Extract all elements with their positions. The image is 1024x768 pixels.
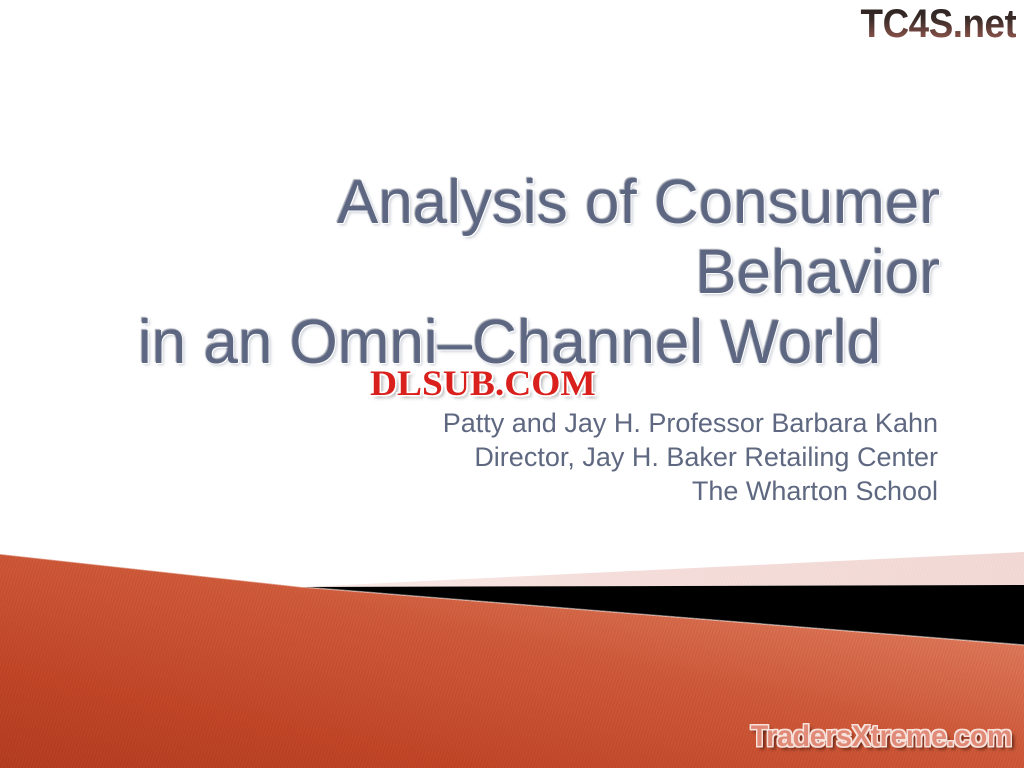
tradersxtreme-watermark: TradersXtreme.com xyxy=(751,720,1012,754)
slide-subtitle: Patty and Jay H. Professor Barbara Kahn … xyxy=(60,406,938,508)
slide-title: Analysis of Consumer Behavior in an Omni… xyxy=(60,168,940,378)
orange-highlight-edge xyxy=(0,554,1024,645)
presentation-slide: TC4S.net Analysis of Consumer Behavior i… xyxy=(0,0,1024,768)
subtitle-line-role: Director, Jay H. Baker Retailing Center xyxy=(60,440,938,474)
black-wedge xyxy=(302,585,1024,645)
subtitle-line-author: Patty and Jay H. Professor Barbara Kahn xyxy=(60,406,938,440)
title-line-2: Behavior xyxy=(60,238,940,308)
subtitle-line-institution: The Wharton School xyxy=(60,474,938,508)
tc4s-watermark: TC4S.net xyxy=(860,2,1016,47)
title-line-1: Analysis of Consumer xyxy=(60,168,940,238)
pink-wedge xyxy=(302,552,1024,587)
dlsub-watermark: DLSUB.COM xyxy=(370,362,596,404)
